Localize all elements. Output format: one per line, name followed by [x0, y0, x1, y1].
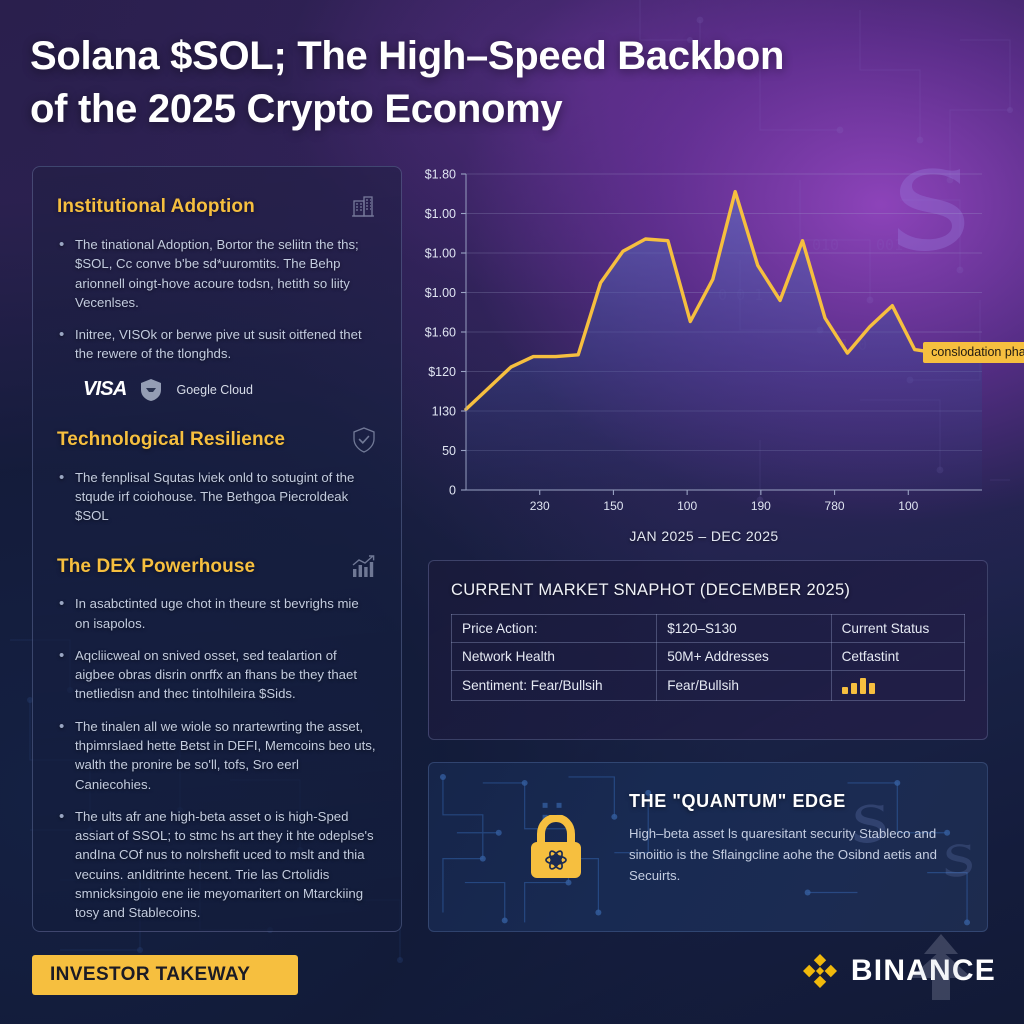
section-header-dex-powerhouse: The DEX Powerhouse [57, 554, 377, 580]
svg-text:230: 230 [530, 499, 550, 513]
snapshot-title: CURRENT MARKET SNAPHOT (DECEMBER 2025) [451, 581, 965, 600]
partner-logos-row: VISA Goegle Cloud [83, 378, 377, 402]
sentiment-bar-chart-icon [842, 677, 954, 694]
row-label: Sentiment: Fear/Bullsih [452, 671, 657, 701]
row-label: Price Action: [452, 615, 657, 643]
table-row: Sentiment: Fear/Bullsih Fear/Bullsih [452, 671, 965, 701]
quantum-text-block: THE "QUANTUM" EDGE High–beta asset ls qu… [629, 791, 965, 887]
chart-annotation-consolidation-phase: conslodation phase [923, 342, 1024, 363]
infographic-canvas: 010001 1 0 0 11 0 Solana $SOL; The High–… [0, 0, 1024, 1024]
list-item: The tinational Adoption, Bortor the seli… [57, 235, 377, 312]
list-item: In asabctinted uge chot in theure st bev… [57, 594, 377, 633]
svg-text:780: 780 [825, 499, 845, 513]
section-title: The DEX Powerhouse [57, 556, 255, 578]
row-value: 50M+ Addresses [657, 643, 831, 671]
section-header-technological-resilience: Technological Resilience [57, 426, 377, 454]
chart-y-axis-labels: $1.80$1.00$1.00$1.00$1.60$1201I30500 [425, 168, 466, 498]
sentiment-bar [842, 687, 848, 694]
svg-text:50: 50 [442, 444, 456, 458]
list-item: The ults afr ane high-beta asset o is hi… [57, 807, 377, 923]
svg-text:100: 100 [677, 499, 697, 513]
sentiment-bar [860, 678, 866, 694]
svg-text:$1.60: $1.60 [425, 326, 456, 340]
bullet-list-institutional-adoption: The tinational Adoption, Bortor the seli… [57, 235, 377, 364]
title-line-1: Solana $SOL; The High–Speed Backbon [30, 30, 970, 83]
row-value: Fear/Bullsih [657, 671, 831, 701]
svg-text:190: 190 [751, 499, 771, 513]
row-status: Current Status [831, 615, 964, 643]
svg-text:$120: $120 [428, 365, 456, 379]
list-item: Initree, VISOk or berwe pive ut susit oi… [57, 325, 377, 364]
lock-icon [525, 815, 587, 881]
left-content-panel: Institutional Adoption The tinational Ad… [32, 166, 402, 932]
quantum-title: THE "QUANTUM" EDGE [629, 791, 965, 812]
table-row: Price Action: $120–S130 Current Status [452, 615, 965, 643]
svg-text:100: 100 [898, 499, 918, 513]
svg-text:0: 0 [449, 484, 456, 498]
market-snapshot-card: CURRENT MARKET SNAPHOT (DECEMBER 2025) P… [428, 560, 988, 740]
bullet-list-technological-resilience: The fenplisal Squtas lviek onld to sotug… [57, 468, 377, 526]
investor-takeaway-badge[interactable]: INVESTOR TAKEWAY [32, 955, 298, 995]
row-status: Cetfastint [831, 643, 964, 671]
binance-brand: BINANCE [801, 952, 996, 990]
list-item: The fenplisal Squtas lviek onld to sotug… [57, 468, 377, 526]
title-line-2: of the 2025 Crypto Economy [30, 83, 970, 136]
sentiment-bar [851, 683, 857, 694]
shield-check-icon [351, 426, 377, 454]
row-value: $120–S130 [657, 615, 831, 643]
visa-logo: VISA [83, 378, 126, 401]
svg-text:$1.00: $1.00 [425, 207, 456, 221]
svg-text:$1.00: $1.00 [425, 286, 456, 300]
svg-text:150: 150 [603, 499, 623, 513]
sentiment-bar [869, 683, 875, 694]
list-item: The tinalen all we wiole so nrartewrting… [57, 717, 377, 794]
quantum-description: High–beta asset ls quaresitant security … [629, 824, 965, 887]
svg-text:$1.80: $1.80 [425, 168, 456, 182]
svg-text:1I30: 1I30 [432, 405, 456, 419]
page-title: Solana $SOL; The High–Speed Backbon of t… [30, 30, 970, 136]
section-title: Technological Resilience [57, 429, 285, 451]
row-label: Network Health [452, 643, 657, 671]
bullet-list-dex-powerhouse: In asabctinted uge chot in theure st bev… [57, 594, 377, 922]
price-chart: $1.80$1.00$1.00$1.00$1.60$1201I30500 230… [416, 160, 992, 550]
google-cloud-shield-icon [140, 378, 162, 402]
google-cloud-label: Goegle Cloud [176, 383, 252, 397]
chart-x-axis-labels: 230150100190780100 [530, 490, 919, 513]
building-icon [349, 193, 377, 221]
chart-x-axis-title: JAN 2025 – DEC 2025 [416, 528, 992, 544]
svg-text:$1.00: $1.00 [425, 247, 456, 261]
snapshot-table: Price Action: $120–S130 Current Status N… [451, 614, 965, 701]
binance-diamond-icon [801, 952, 839, 990]
binance-wordmark: BINANCE [851, 954, 996, 988]
chart-plot-area: $1.80$1.00$1.00$1.00$1.60$1201I30500 230… [416, 160, 992, 530]
table-row: Network Health 50M+ Addresses Cetfastint [452, 643, 965, 671]
quantum-edge-card: THE "QUANTUM" EDGE High–beta asset ls qu… [428, 762, 988, 932]
chart-growth-icon [349, 554, 377, 580]
section-header-institutional-adoption: Institutional Adoption [57, 193, 377, 221]
list-item: Aqcliicweal on snived osset, sed tealart… [57, 646, 377, 704]
row-status [831, 671, 964, 701]
section-title: Institutional Adoption [57, 196, 255, 218]
